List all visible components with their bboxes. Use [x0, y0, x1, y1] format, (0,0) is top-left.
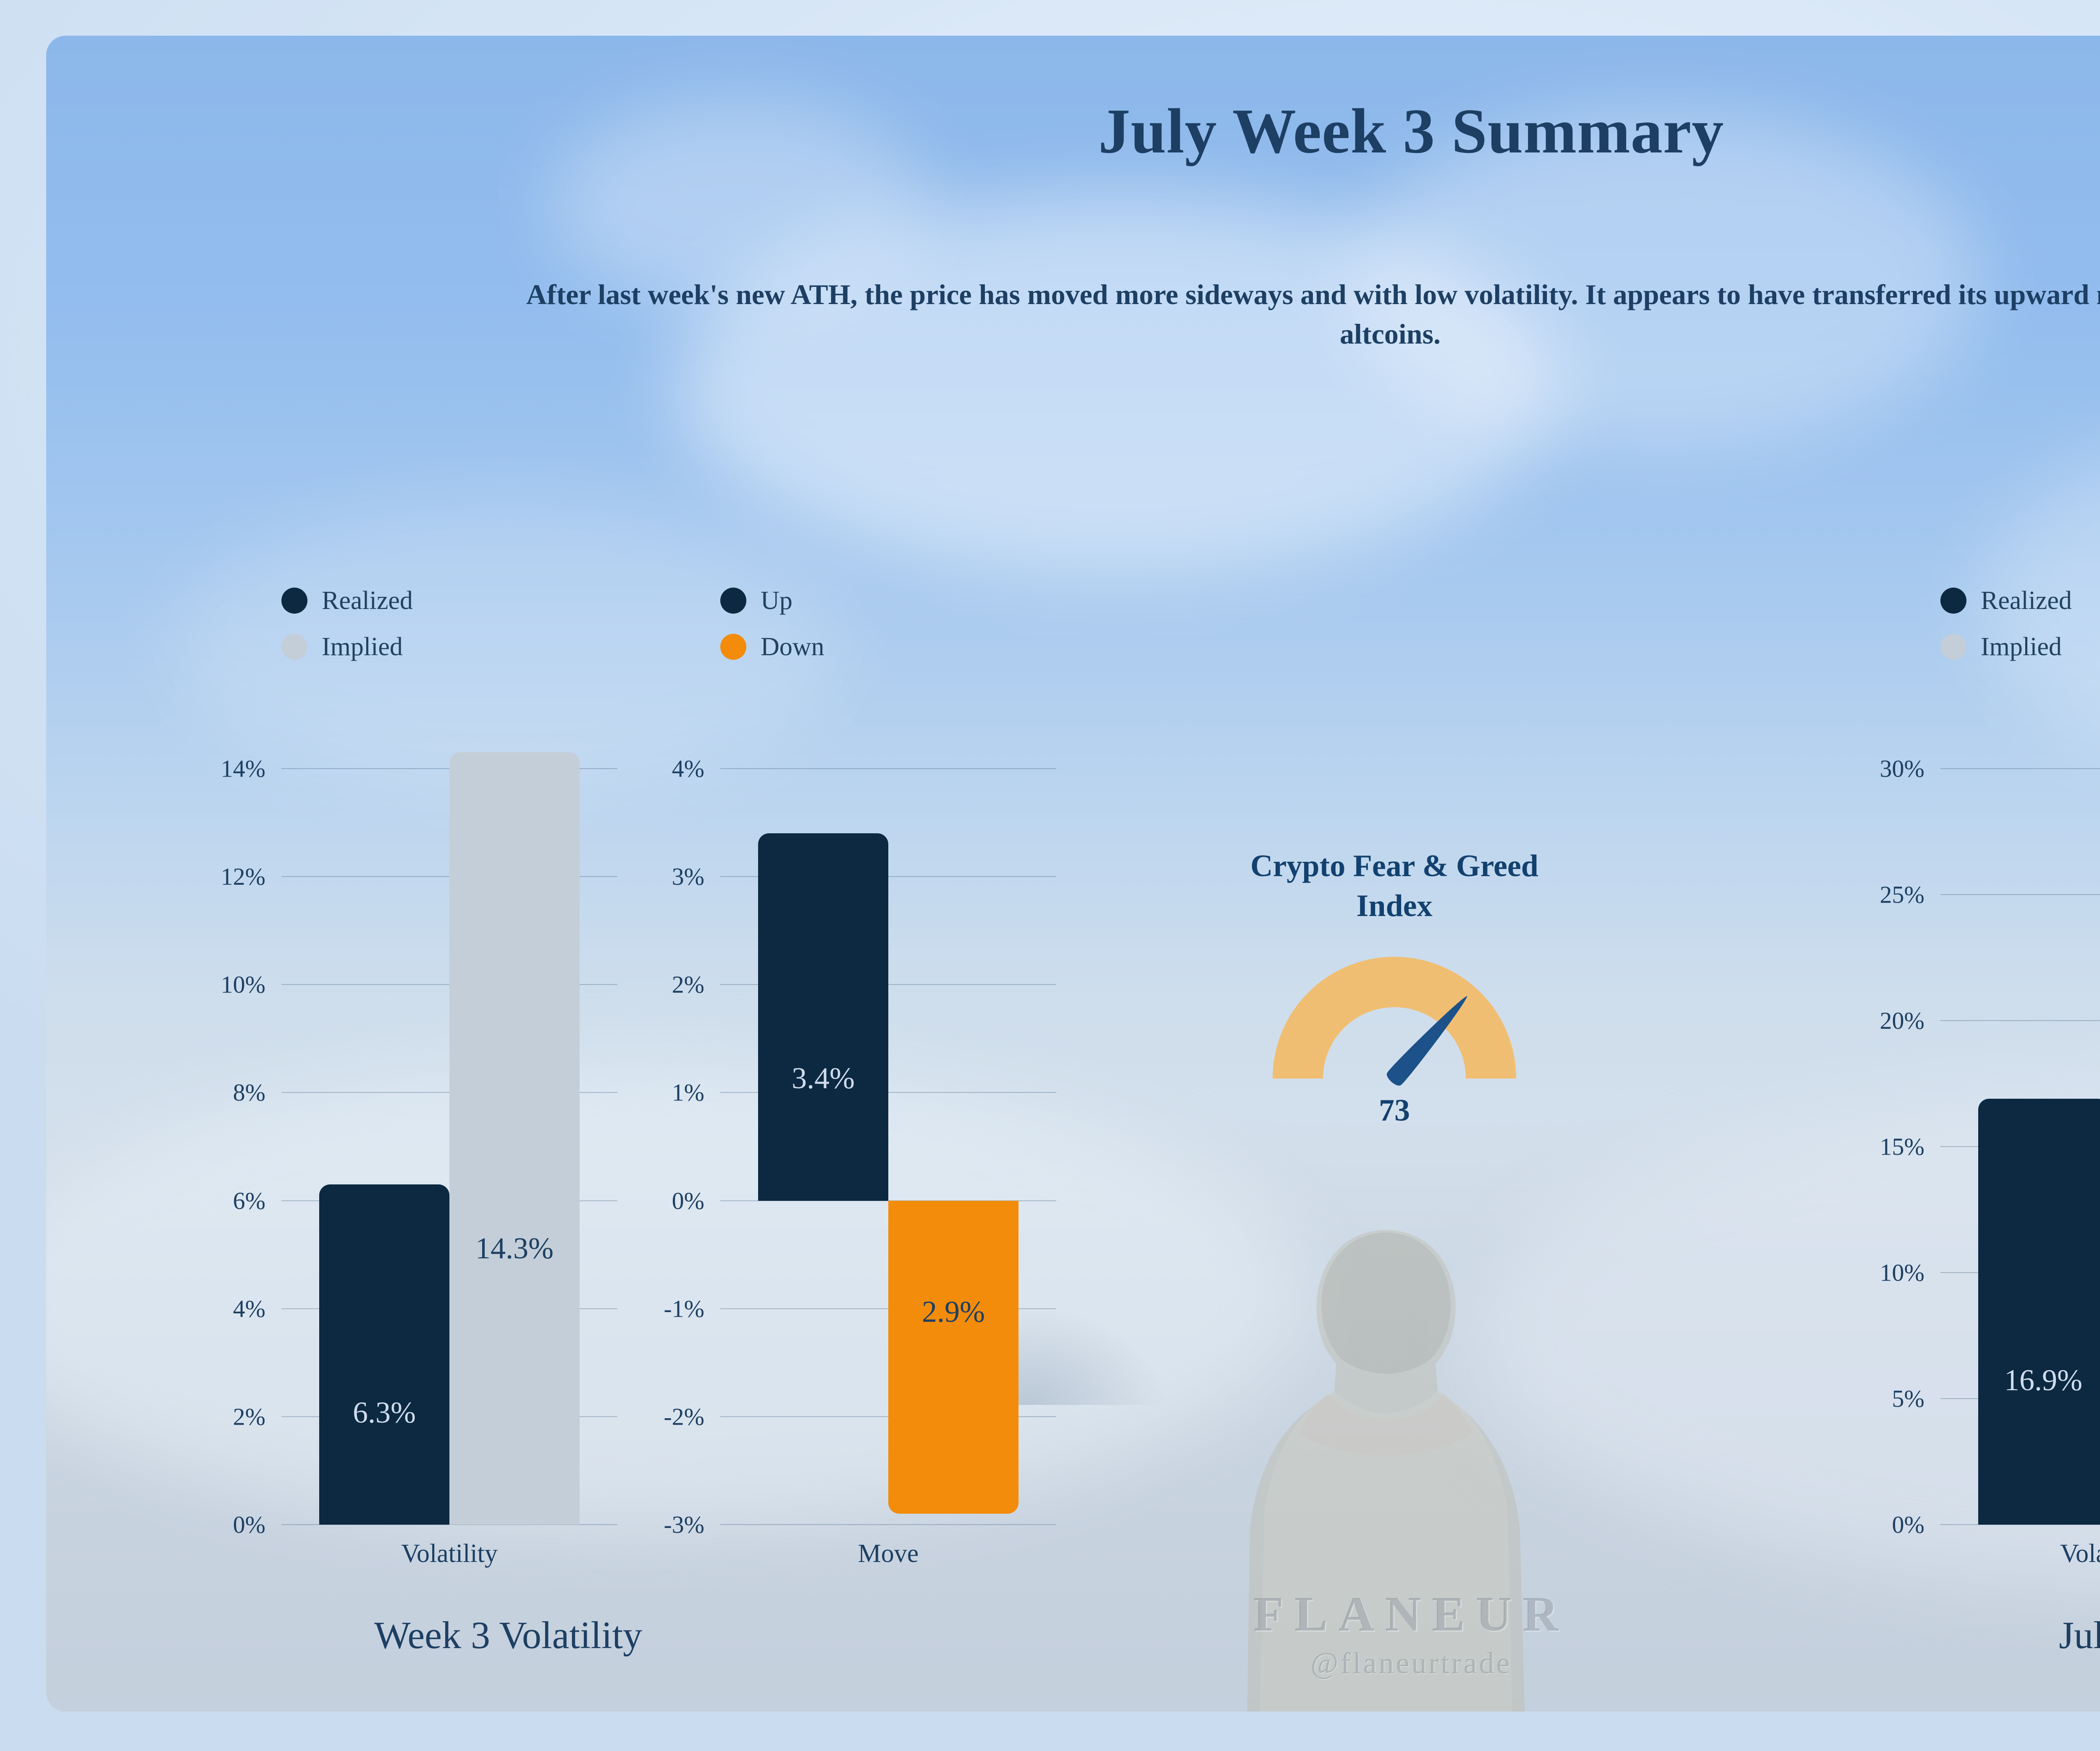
category-label: Volatility	[2060, 1539, 2100, 1569]
bar-value-label: 14.3%	[475, 1231, 554, 1266]
legend-item-down[interactable]: Down	[720, 624, 824, 670]
gauge-arc-icon	[1273, 957, 1516, 1079]
y-axis-tick-label: -1%	[664, 1294, 704, 1323]
down-legend-dot	[720, 634, 746, 660]
y-axis-tick-label: 5%	[1892, 1385, 1924, 1413]
y-axis-tick-label: 3%	[672, 863, 704, 891]
page-title: July Week 3 Summary	[46, 95, 2100, 168]
legend-label: Realized	[322, 586, 413, 616]
gridline	[1940, 1020, 2100, 1021]
gridline	[720, 768, 1056, 769]
legend-item-implied[interactable]: Implied	[1940, 624, 2072, 670]
watermark-handle: @flaneurtrade	[46, 1646, 2100, 1681]
gridline	[1940, 894, 2100, 895]
y-axis-tick-label: 12%	[221, 863, 265, 891]
y-axis-tick-label: 4%	[672, 755, 704, 783]
implied-legend-dot	[281, 634, 307, 660]
y-axis-tick-label: 30%	[1880, 755, 1924, 783]
y-axis-tick-label: -3%	[664, 1511, 704, 1539]
bar-week3-move-up	[758, 833, 888, 1200]
gauge-dial	[1247, 940, 1541, 1091]
legend-item-realized[interactable]: Realized	[1940, 578, 2072, 624]
realized-legend-dot	[281, 588, 307, 614]
y-axis-tick-label: 1%	[672, 1079, 704, 1107]
realized-legend-dot	[1940, 588, 1966, 614]
y-axis-tick-label: 20%	[1880, 1007, 1924, 1035]
bar-week3-volatility-implied	[449, 752, 580, 1525]
page-subtitle: After last week's new ATH, the price has…	[487, 275, 2100, 354]
gridline	[1940, 768, 2100, 769]
chart-plot-week3-move: -3%-2%-1%0%1%2%3%4%3.4%2.9%Move	[720, 769, 1056, 1525]
legend-label: Implied	[322, 632, 403, 662]
bar-week3-move-down	[888, 1201, 1018, 1514]
gridline	[720, 1524, 1056, 1525]
y-axis-tick-label: 2%	[233, 1402, 265, 1431]
y-axis-tick-label: -2%	[664, 1402, 704, 1431]
y-axis-tick-label: 14%	[221, 755, 265, 783]
legend-item-realized[interactable]: Realized	[281, 578, 413, 624]
bar-week3-volatility-realized	[319, 1184, 449, 1525]
up-legend-dot	[720, 588, 746, 614]
y-axis-tick-label: 15%	[1880, 1133, 1924, 1161]
bar-value-label: 6.3%	[353, 1395, 416, 1430]
chart-legend-week3-volatility: RealizedImplied	[281, 578, 413, 670]
chart-plot-week3-volatility: 0%2%4%6%8%10%12%14%6.3%14.3%Volatility	[281, 769, 617, 1525]
watermark: FLANEUR @flaneurtrade	[46, 1586, 2100, 1681]
legend-item-up[interactable]: Up	[720, 578, 824, 624]
bar-value-label: 3.4%	[792, 1061, 855, 1096]
bar-value-label: 16.9%	[2004, 1363, 2082, 1398]
legend-label: Implied	[1981, 632, 2062, 662]
gauge-title-line2: Index	[1357, 889, 1433, 923]
y-axis-tick-label: 25%	[1880, 881, 1924, 909]
fear-greed-gauge: Crypto Fear & Greed Index 73	[1147, 846, 1642, 1129]
y-axis-tick-label: 10%	[221, 971, 265, 999]
y-axis-tick-label: 0%	[1892, 1511, 1924, 1539]
bar-july-volatility-realized	[1978, 1099, 2100, 1525]
y-axis-tick-label: 2%	[672, 971, 704, 999]
y-axis-tick-label: 4%	[233, 1294, 265, 1323]
y-axis-tick-label: 8%	[233, 1079, 265, 1107]
gauge-title-line1: Crypto Fear & Greed	[1250, 849, 1538, 883]
implied-legend-dot	[1940, 634, 1966, 660]
legend-label: Up	[761, 586, 793, 616]
poster-frame: July Week 3 Summary After last week's ne…	[0, 0, 2100, 1751]
y-axis-tick-label: 0%	[233, 1511, 265, 1539]
legend-label: Realized	[1981, 586, 2072, 616]
category-label: Move	[858, 1539, 919, 1569]
chart-legend-july-volatility: RealizedImplied	[1940, 578, 2072, 670]
y-axis-tick-label: 6%	[233, 1187, 265, 1215]
chart-legend-week3-move: UpDown	[720, 578, 824, 670]
cloud-blob	[676, 195, 1558, 573]
y-axis-tick-label: 0%	[672, 1187, 704, 1215]
gauge-title: Crypto Fear & Greed Index	[1147, 846, 1642, 926]
legend-item-implied[interactable]: Implied	[281, 624, 413, 670]
watermark-brand: FLANEUR	[46, 1586, 2100, 1643]
category-label: Volatility	[401, 1539, 498, 1569]
chart-plot-july-volatility: 0%5%10%15%20%25%30%16.9%28.5%Volatility	[1940, 769, 2100, 1525]
y-axis-tick-label: 10%	[1880, 1259, 1924, 1287]
legend-label: Down	[761, 632, 824, 662]
gauge-value: 73	[1147, 1093, 1642, 1129]
bar-value-label: 2.9%	[922, 1294, 985, 1329]
poster-card: July Week 3 Summary After last week's ne…	[46, 36, 2100, 1712]
